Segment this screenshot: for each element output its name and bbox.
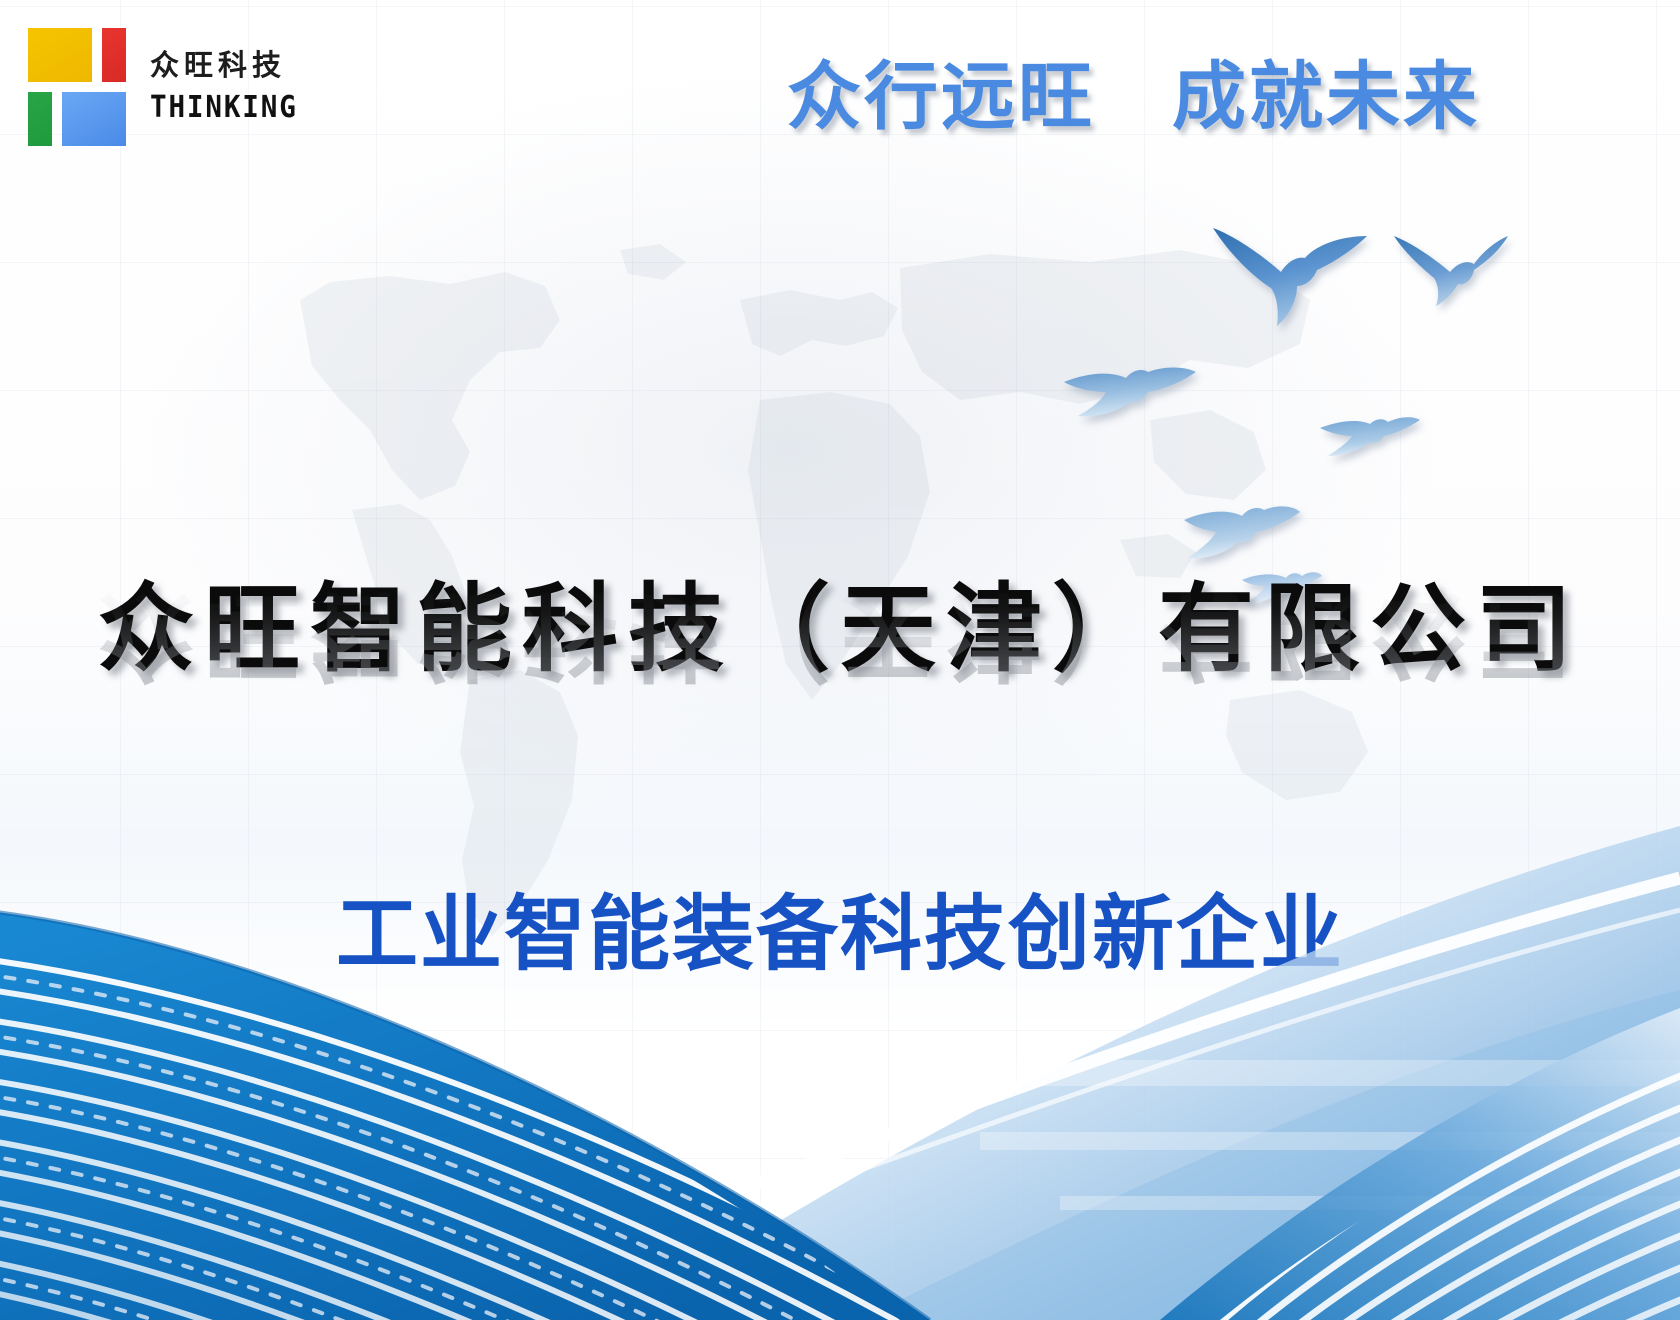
seagull-icon (1388, 228, 1513, 310)
page-title-reflection: 众旺智能科技（天津）有限公司 (0, 580, 1680, 688)
logo-square-red (102, 28, 126, 82)
title-block: 众旺智能科技（天津）有限公司 众旺智能科技（天津）有限公司 (0, 576, 1680, 795)
bottom-wave-decoration (0, 760, 1680, 1320)
logo-square-blue (62, 92, 126, 146)
logo-chinese-name: 众旺科技 (150, 51, 311, 83)
seagull-icon (1318, 410, 1422, 470)
seagull-icon (1060, 360, 1200, 438)
logo-square-yellow (28, 28, 92, 82)
presentation-slide: 众旺科技 THINKING 众行远旺 成就未来 (0, 0, 1680, 1320)
logo-english-name: THINKING (150, 93, 298, 123)
header-slogan: 众行远旺 成就未来 (787, 58, 1480, 136)
four-square-logo-icon (28, 28, 134, 146)
logo-square-green (28, 92, 52, 146)
seagull-icon (1180, 500, 1302, 572)
page-subtitle: 工业智能装备科技创新企业 (0, 890, 1680, 980)
seagull-icon (1205, 222, 1375, 332)
logo-wordmark: 众旺科技 THINKING (150, 32, 311, 142)
company-logo[interactable]: 众旺科技 THINKING (28, 28, 311, 146)
